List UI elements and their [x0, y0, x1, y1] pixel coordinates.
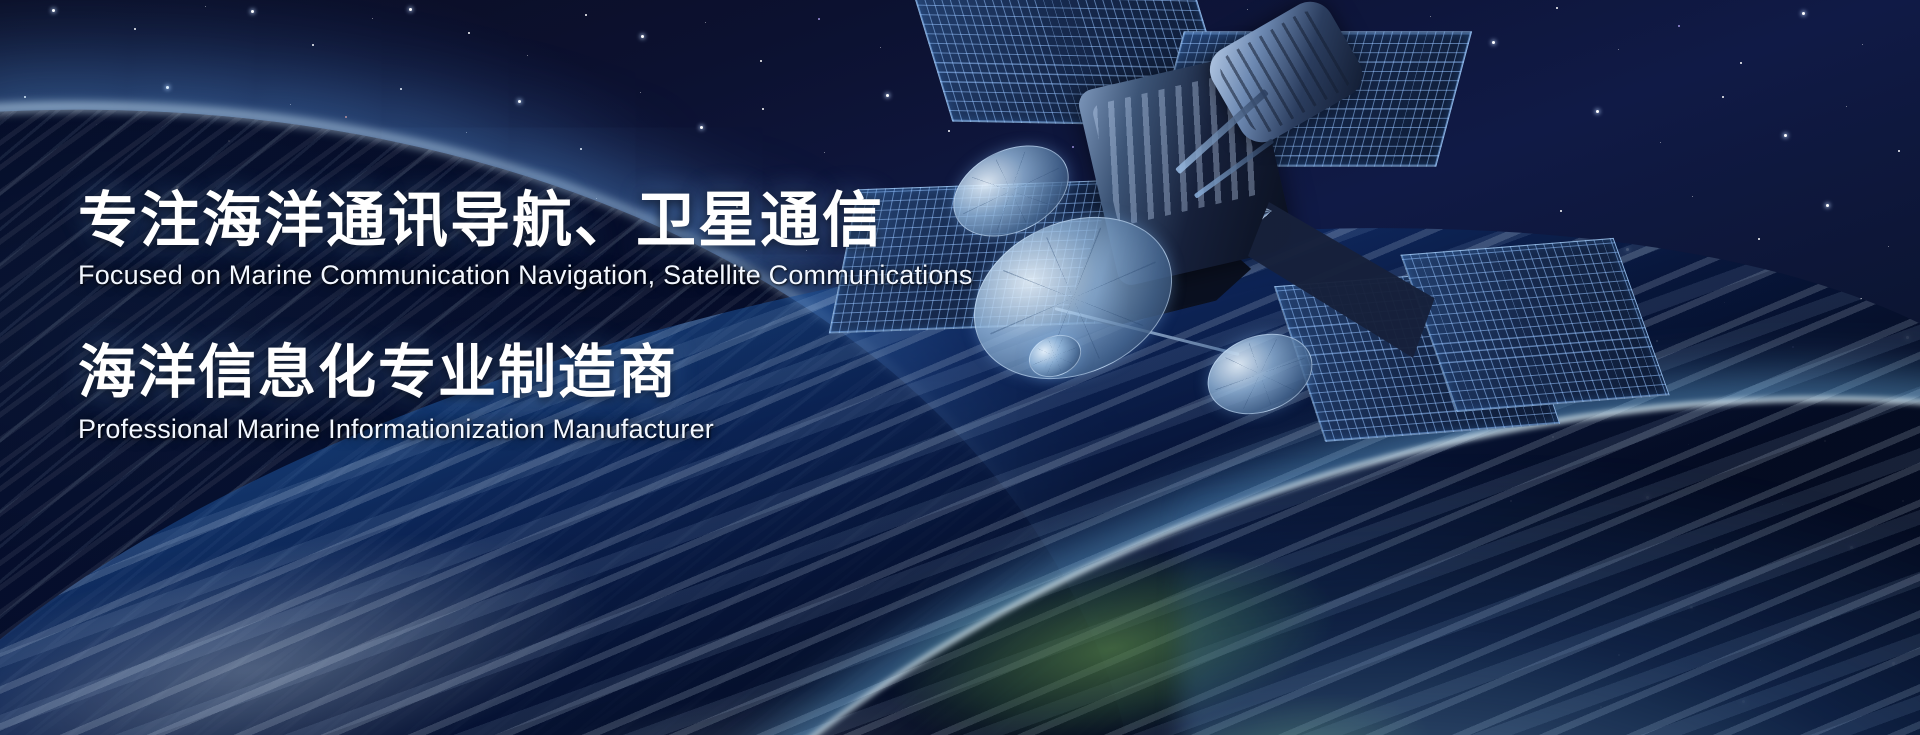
headline-block-1: 专注海洋通讯导航、卫星通信 Focused on Marine Communic… — [78, 186, 973, 292]
hero-banner: 专注海洋通讯导航、卫星通信 Focused on Marine Communic… — [0, 0, 1920, 735]
banner-copy: 专注海洋通讯导航、卫星通信 Focused on Marine Communic… — [78, 186, 973, 446]
headline-primary-en: Focused on Marine Communication Navigati… — [78, 258, 973, 292]
atmosphere-glow-lower-right — [1180, 470, 1920, 735]
headline-secondary-cn: 海洋信息化专业制造商 — [78, 338, 973, 408]
communications-satellite — [900, 0, 1580, 460]
headline-secondary-en: Professional Marine Informationization M… — [78, 412, 973, 446]
headline-primary-cn: 专注海洋通讯导航、卫星通信 — [78, 186, 973, 256]
headline-block-2: 海洋信息化专业制造商 Professional Marine Informati… — [78, 338, 973, 446]
